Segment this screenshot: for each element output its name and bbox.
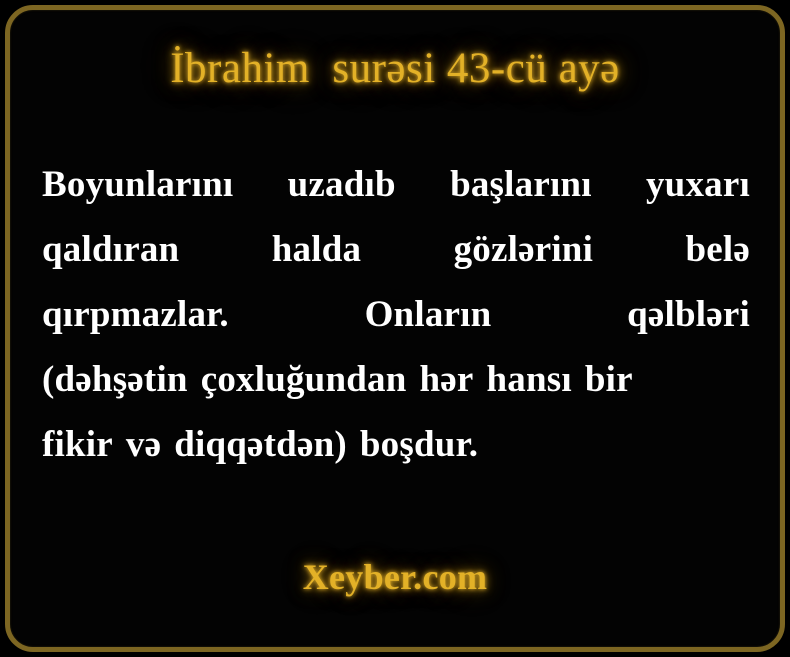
ayah-card-root: İbrahim surəsi 43-cü ayə Boyunlarınıuzad… [0,0,790,657]
verse-word: qəlbləri [627,282,750,347]
verse-line: qırpmazlar.Onlarınqəlbləri [42,282,750,347]
verse-word: halda [272,217,361,282]
verse-word: Boyunlarını [42,152,233,217]
card-title-block: İbrahim surəsi 43-cü ayə [0,44,790,93]
site-watermark: Xeyber.com [303,556,488,598]
verse-line: fikirvədiqqətdən)boşdur. [42,412,750,477]
verse-line: (dəhşətinçoxluğundanhərhansıbir [42,347,750,412]
verse-word: Onların [365,282,492,347]
verse-word: qaldıran [42,217,179,282]
verse-word: fikir [42,412,113,477]
verse-line: Boyunlarınıuzadıbbaşlarınıyuxarı [42,152,750,217]
verse-word: boşdur. [360,412,478,477]
verse-word: qırpmazlar. [42,282,229,347]
verse-line: qaldıranhaldagözlərinibelə [42,217,750,282]
verse-word: başlarını [450,152,592,217]
verse-word: diqqətdən) [174,412,347,477]
page-title: İbrahim surəsi 43-cü ayə [170,44,620,93]
verse-word: hər [420,347,474,412]
verse-body-block: Boyunlarınıuzadıbbaşlarınıyuxarıqaldıran… [42,152,750,477]
verse-word: belə [685,217,750,282]
verse-word: bir [585,347,633,412]
verse-word: çoxluğundan [201,347,407,412]
verse-word: uzadıb [288,152,396,217]
verse-word: hansı [487,347,572,412]
card-footer-block: Xeyber.com [0,556,790,598]
verse-word: (dəhşətin [42,347,188,412]
verse-word: gözlərini [454,217,593,282]
verse-word: yuxarı [646,152,750,217]
verse-word: və [126,412,161,477]
